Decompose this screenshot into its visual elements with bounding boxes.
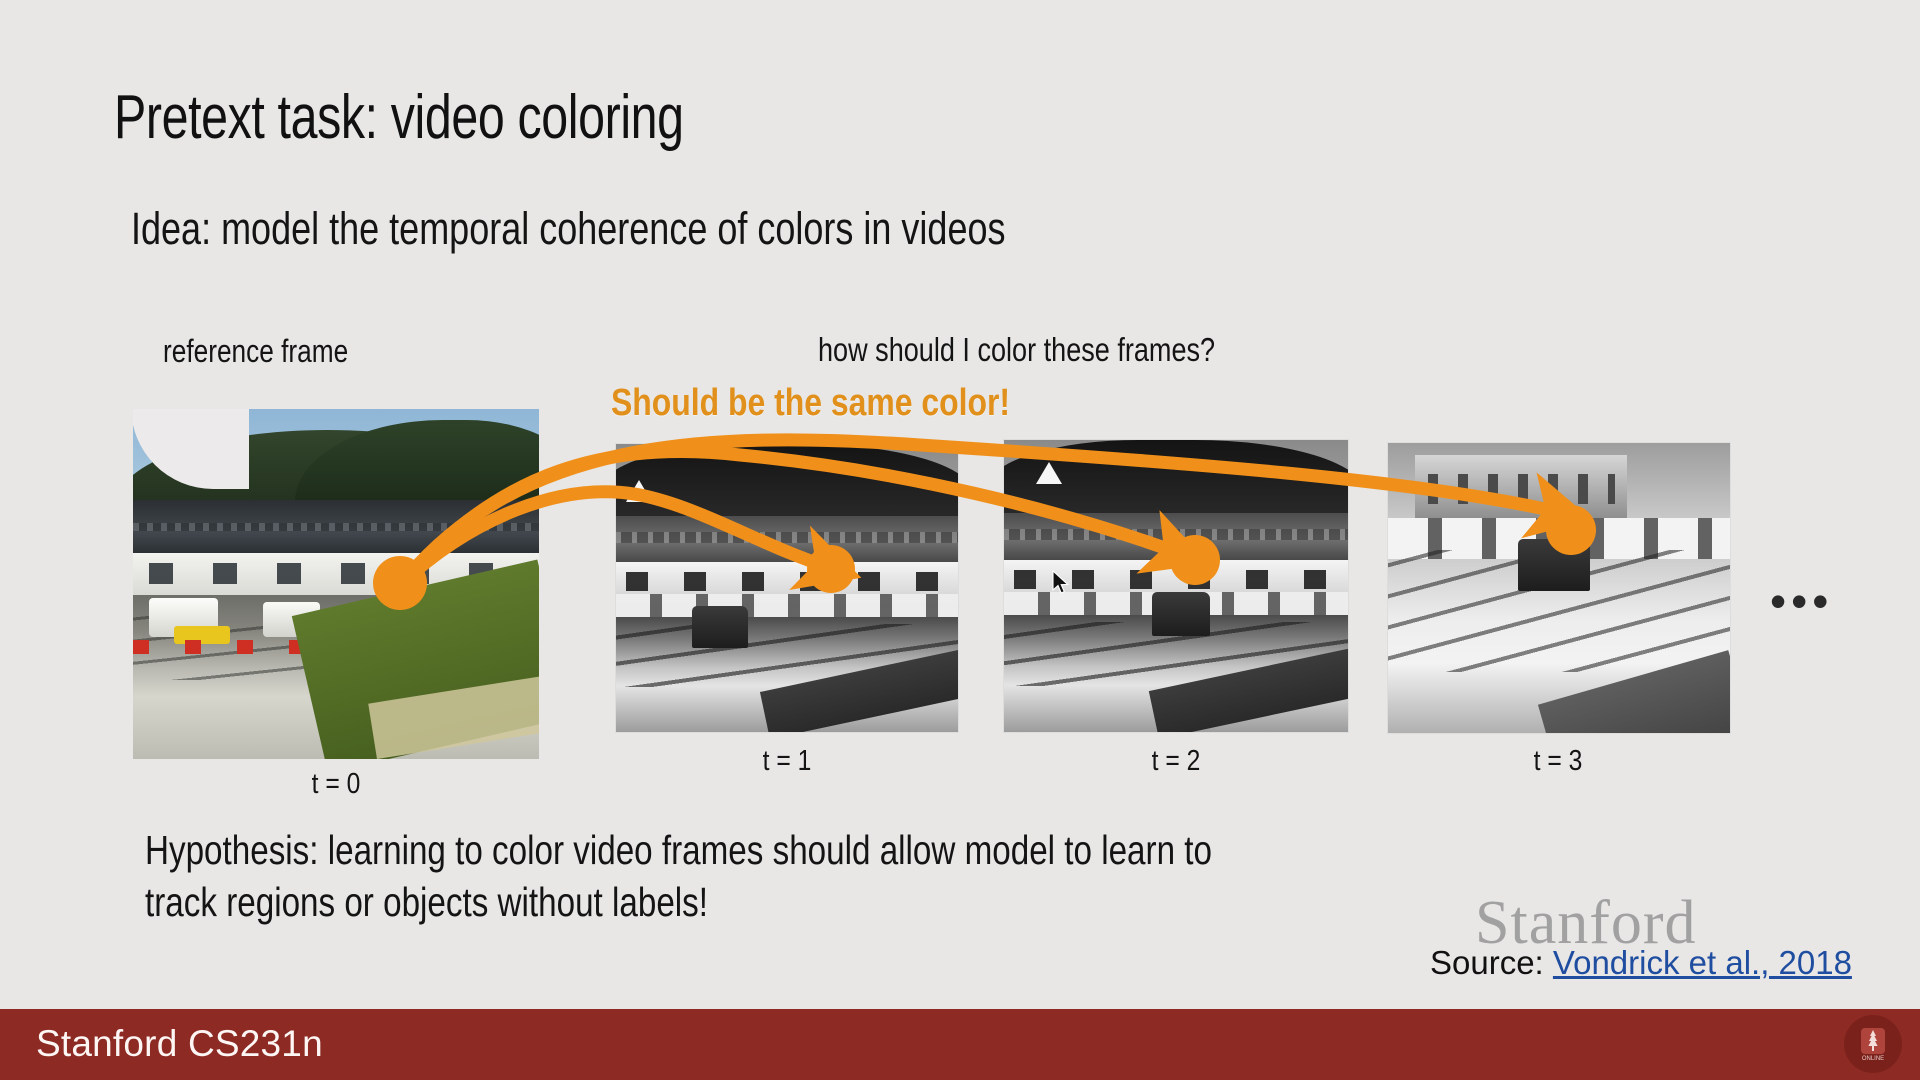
- hypothesis-line-2: track regions or objects without labels!: [145, 876, 1684, 928]
- frame-caption-t0: t = 0: [251, 768, 421, 801]
- ellipsis-more-frames: •••: [1770, 578, 1833, 624]
- frame-caption-t2: t = 2: [1091, 745, 1261, 778]
- page-title: Pretext task: video coloring: [114, 85, 684, 150]
- source-link[interactable]: Vondrick et al., 2018: [1553, 944, 1852, 981]
- arrow-to-t3: [402, 440, 1558, 583]
- t1-track-surface: [616, 617, 958, 732]
- ref-grandstand: [133, 500, 539, 560]
- t2-dark-car: [1152, 592, 1210, 636]
- t1-dark-car: [692, 606, 748, 648]
- frame-t3: [1388, 443, 1730, 733]
- how-should-i-color-label: how should I color these frames?: [818, 331, 1215, 369]
- t3-dark-car: [1518, 539, 1590, 591]
- frame-caption-t3: t = 3: [1473, 745, 1643, 778]
- reference-frame: [133, 409, 539, 759]
- footer-bar: Stanford CS231n ONLINE: [0, 1009, 1920, 1080]
- source-prefix-label: Source:: [1430, 944, 1553, 981]
- course-brand-label: Stanford CS231n: [36, 1023, 323, 1065]
- t2-grandstand: [1004, 513, 1348, 566]
- hypothesis-line-1: Hypothesis: learning to color video fram…: [145, 824, 1684, 876]
- t3-building: [1415, 455, 1627, 519]
- mouse-cursor: [1052, 570, 1070, 596]
- same-color-callout: Should be the same color!: [611, 382, 1010, 425]
- reference-frame-label: reference frame: [163, 333, 348, 370]
- stanford-online-logo: ONLINE: [1844, 1015, 1902, 1073]
- stanford-tree-icon: ONLINE: [1853, 1024, 1893, 1064]
- frame-caption-t1: t = 1: [702, 745, 872, 778]
- slide-canvas: Pretext task: video coloring Idea: model…: [0, 0, 1920, 1080]
- frame-t1: [616, 444, 958, 732]
- slide-subtitle: Idea: model the temporal coherence of co…: [131, 205, 1006, 252]
- hypothesis-text: Hypothesis: learning to color video fram…: [145, 824, 1684, 929]
- logo-online-text: ONLINE: [1862, 1056, 1884, 1062]
- source-citation: Source: Vondrick et al., 2018: [1430, 944, 1852, 982]
- t1-grandstand: [616, 516, 958, 568]
